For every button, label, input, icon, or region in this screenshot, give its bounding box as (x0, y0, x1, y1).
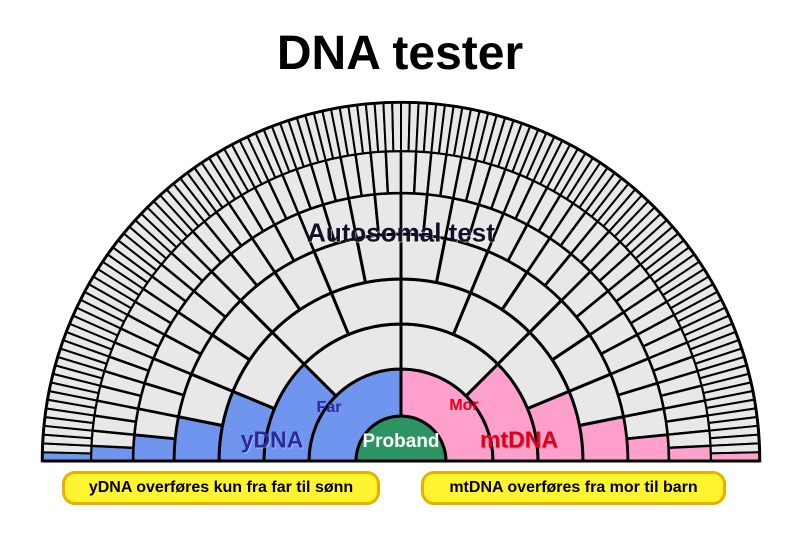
dna-test-infographic: DNA tester Autosomal test Proband yDNA m… (0, 0, 800, 548)
ydna-callout: yDNA overføres kun fra far til sønn (62, 471, 380, 505)
mtdna-cell-gen6 (669, 446, 711, 461)
fan-cell-gen5 (375, 193, 401, 235)
fan-cell-gen4 (357, 234, 401, 282)
mtdna-cell-gen5 (627, 435, 669, 461)
fan-chart-svg (0, 0, 800, 548)
mtdna-cell-gen4 (580, 417, 628, 461)
fan-cell-gen7 (392, 102, 401, 151)
fan-chart (0, 0, 800, 548)
mtdna-callout: mtDNA overføres fra mor til barn (421, 471, 726, 505)
fan-cell-gen6 (386, 151, 401, 193)
fan-chart-cells (42, 102, 760, 461)
